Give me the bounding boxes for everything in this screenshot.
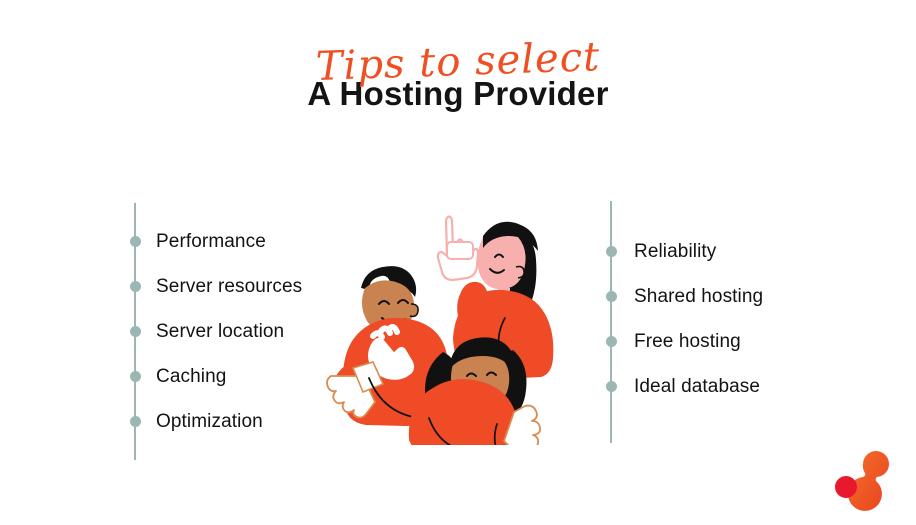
bullet-dot-icon [606, 246, 617, 257]
right-tips-column: Reliability Shared hosting Free hosting … [604, 201, 763, 409]
list-item-label: Server resources [156, 276, 302, 298]
list-item-label: Caching [156, 366, 226, 388]
molecule-logo[interactable] [833, 450, 903, 515]
bullet-dot-icon [130, 371, 141, 382]
three-people-illustration [325, 210, 580, 445]
header: Tips to select A Hosting Provider [0, 42, 916, 112]
list-item[interactable]: Server location [128, 309, 302, 354]
list-item-label: Free hosting [634, 331, 741, 353]
list-item[interactable]: Optimization [128, 399, 302, 444]
list-item-label: Optimization [156, 411, 263, 433]
list-item[interactable]: Performance [128, 219, 302, 264]
left-tips-column: Performance Server resources Server loca… [128, 203, 302, 444]
bullet-dot-icon [606, 291, 617, 302]
logo-red-dot [835, 476, 857, 498]
bullet-dot-icon [130, 236, 141, 247]
bullet-dot-icon [130, 416, 141, 427]
list-item-label: Server location [156, 321, 284, 343]
list-item[interactable]: Ideal database [604, 364, 763, 409]
right-tips-list: Reliability Shared hosting Free hosting … [604, 201, 763, 409]
list-item[interactable]: Server resources [128, 264, 302, 309]
list-item[interactable]: Shared hosting [604, 274, 763, 319]
bullet-dot-icon [130, 281, 141, 292]
slide-canvas: Tips to select A Hosting Provider Perfor… [0, 0, 916, 525]
list-item-label: Ideal database [634, 376, 760, 398]
sleeve-cuff [447, 242, 473, 259]
list-item[interactable]: Reliability [604, 229, 763, 274]
list-item-label: Performance [156, 231, 266, 253]
bullet-dot-icon [606, 381, 617, 392]
ear [410, 304, 418, 316]
list-item[interactable]: Caching [128, 354, 302, 399]
list-item[interactable]: Free hosting [604, 319, 763, 364]
left-tips-list: Performance Server resources Server loca… [128, 203, 302, 444]
list-item-label: Reliability [634, 241, 716, 263]
list-item-label: Shared hosting [634, 286, 763, 308]
bullet-dot-icon [606, 336, 617, 347]
bullet-dot-icon [130, 326, 141, 337]
